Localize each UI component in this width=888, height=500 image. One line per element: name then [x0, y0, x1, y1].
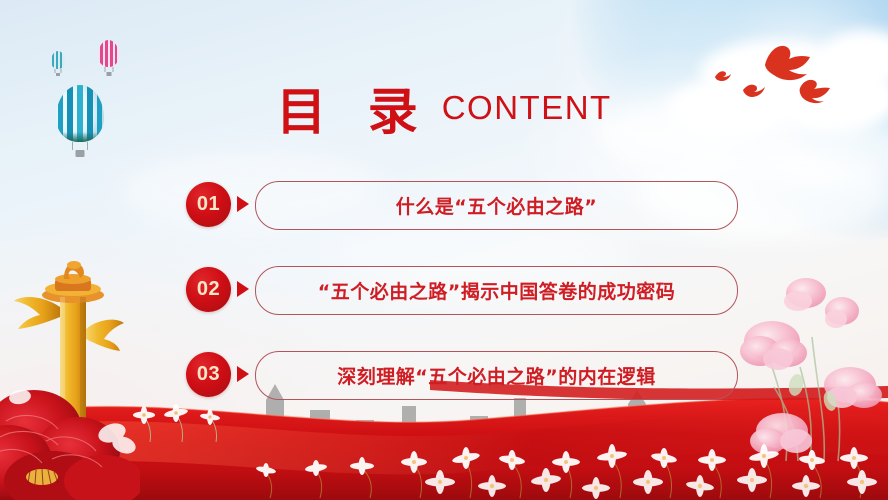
item-label: “五个必由之路”揭示中国答卷的成功密码 [318, 277, 675, 304]
contents-list: 01 什么是“五个必由之路” 02 “五个必由之路”揭示中国答卷的成功密码 03… [186, 181, 738, 436]
page-title-cn: 目 录 [276, 83, 429, 141]
balloon-small-teal [51, 51, 65, 69]
triangle-arrow-icon [237, 196, 249, 212]
triangle-arrow-icon [237, 281, 249, 297]
item-pill[interactable]: “五个必由之路”揭示中国答卷的成功密码 [255, 266, 738, 315]
balloon-pink [98, 40, 119, 67]
item-number-badge: 03 [186, 352, 231, 397]
item-label: 什么是“五个必由之路” [396, 192, 597, 219]
item-pill[interactable]: 深刻理解“五个必由之路”的内在逻辑 [255, 351, 738, 400]
presentation-slide: 目 录CONTENT 01 什么是“五个必由之路” 02 “五个必由之路”揭示中… [0, 0, 888, 500]
item-number-badge: 01 [186, 182, 231, 227]
page-title-en: CONTENT [442, 89, 612, 126]
contents-item-02[interactable]: 02 “五个必由之路”揭示中国答卷的成功密码 [186, 266, 738, 314]
triangle-arrow-icon [237, 366, 249, 382]
slide-title: 目 录CONTENT [0, 72, 888, 144]
item-label: 深刻理解“五个必由之路”的内在逻辑 [337, 362, 655, 389]
item-pill[interactable]: 什么是“五个必由之路” [255, 181, 738, 230]
item-number-badge: 02 [186, 267, 231, 312]
contents-item-01[interactable]: 01 什么是“五个必由之路” [186, 181, 738, 229]
contents-item-03[interactable]: 03 深刻理解“五个必由之路”的内在逻辑 [186, 351, 738, 399]
